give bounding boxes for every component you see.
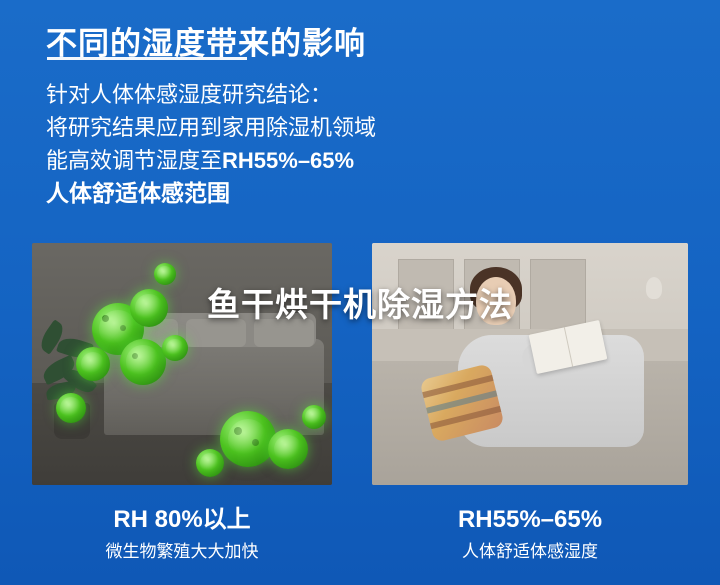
title-underline xyxy=(47,57,247,60)
caption-right-sub: 人体舒适体感湿度 xyxy=(372,539,688,565)
body-copy: 针对人体体感湿度研究结论： 将研究结果应用到家用除湿机领域 能高效调节湿度至RH… xyxy=(46,78,666,210)
microbe-dot xyxy=(234,427,242,435)
microbe-blob xyxy=(120,339,166,385)
caption-right-main: RH55%–65% xyxy=(372,505,688,535)
microbe-blob xyxy=(196,449,224,477)
microbe-blob xyxy=(220,411,276,467)
microbe-blob xyxy=(56,393,86,423)
caption-left: RH 80%以上 微生物繁殖大大加快 xyxy=(32,505,332,565)
copy-line-3-prefix: 能高效调节湿度至 xyxy=(46,148,222,173)
caption-left-sub: 微生物繁殖大大加快 xyxy=(32,539,332,565)
microbe-blob xyxy=(302,405,326,429)
microbe-dot xyxy=(132,353,138,359)
copy-line-3: 能高效调节湿度至RH55%–65% xyxy=(46,144,666,177)
copy-line-4: 人体舒适体感范围 xyxy=(46,177,666,210)
copy-line-1: 针对人体体感湿度研究结论： xyxy=(46,78,666,111)
caption-left-main: RH 80%以上 xyxy=(32,505,332,535)
caption-right: RH55%–65% 人体舒适体感湿度 xyxy=(372,505,688,565)
copy-line-2: 将研究结果应用到家用除湿机领域 xyxy=(46,111,666,144)
microbe-blob xyxy=(162,335,188,361)
poster-root: 不同的湿度带来的影响 针对人体体感湿度研究结论： 将研究结果应用到家用除湿机领域… xyxy=(0,0,720,585)
microbe-blob xyxy=(268,429,308,469)
overlay-title: 鱼干烘干机除湿方法 xyxy=(0,278,720,326)
microbe-blob xyxy=(76,347,110,381)
microbe-dot xyxy=(252,439,259,446)
copy-line-3-highlight: RH55%–65% xyxy=(222,148,354,173)
